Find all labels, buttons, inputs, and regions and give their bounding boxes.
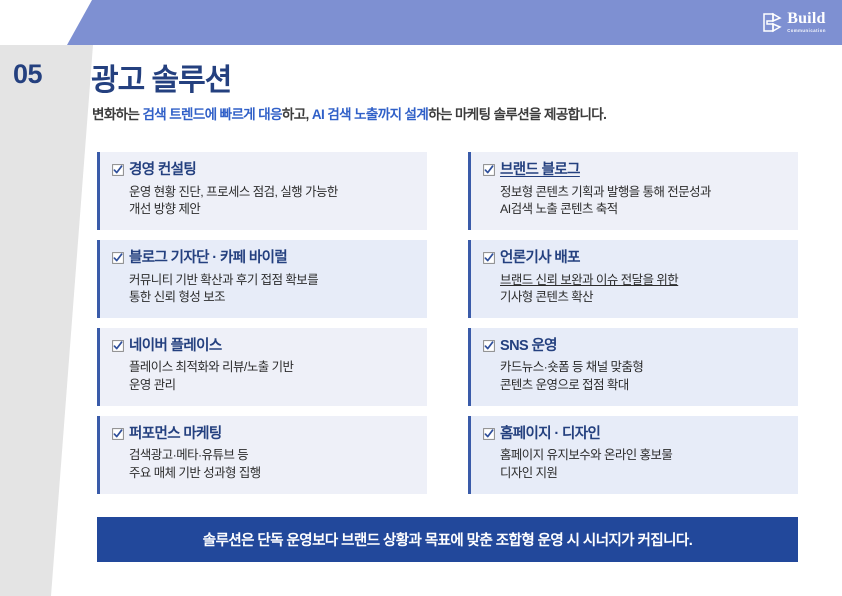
card-description: 홈페이지 유지보수와 온라인 홍보물 디자인 지원 [500,447,786,482]
solution-card[interactable]: 홈페이지 · 디자인 홈페이지 유지보수와 온라인 홍보물 디자인 지원 [468,416,798,494]
summary-banner-text: 솔루션은 단독 운영보다 브랜드 상황과 목표에 맞춘 조합형 운영 시 시너지… [203,529,692,550]
card-description-line: 콘텐츠 운영으로 접점 확대 [500,378,629,392]
card-header: 네이버 플레이스 [112,338,415,355]
card-description-line: 운영 관리 [129,378,176,392]
logo-wordmark: Build [787,11,826,27]
subtitle-segment-3: 하는 마케팅 솔루션을 제공합니다. [428,107,606,122]
card-title: 언론기사 배포 [500,250,580,267]
card-description-line: 커뮤니티 기반 확산과 후기 접점 확보를 [129,273,318,287]
card-header: SNS 운영 [483,338,786,355]
solution-card[interactable]: 브랜드 블로그 정보형 콘텐츠 기획과 발행을 통해 전문성과 AI검색 노출 … [468,152,798,230]
solution-card[interactable]: 언론기사 배포 브랜드 신뢰 보완과 이슈 전달을 위한 기사형 콘텐츠 확산 [468,240,798,318]
card-description-line: 정보형 콘텐츠 기획과 발행을 통해 전문성과 [500,185,711,199]
solution-card[interactable]: 퍼포먼스 마케팅 검색광고·메타·유튜브 등 주요 매체 기반 성과형 집행 [97,416,427,494]
card-description-line: 검색광고·메타·유튜브 등 [129,448,248,462]
slide-number: 05 [13,59,42,90]
card-title: 경영 컨설팅 [129,162,196,179]
card-title: SNS 운영 [500,338,557,355]
solution-card-grid: 경영 컨설팅 운영 현황 진단, 프로세스 점검, 실행 가능한 개선 방향 제… [97,152,798,494]
slide-canvas: Build Communication 05 광고 솔루션 변화하는 검색 트렌… [0,0,842,596]
checked-box-icon [112,428,124,440]
card-description-line: 통한 신뢰 형성 보조 [129,290,225,304]
checked-box-icon [112,252,124,264]
card-description-line: AI검색 노출 콘텐츠 축적 [500,202,618,216]
card-title: 블로그 기자단 · 카페 바이럴 [129,250,287,267]
card-header: 홈페이지 · 디자인 [483,426,786,443]
solution-card[interactable]: 경영 컨설팅 운영 현황 진단, 프로세스 점검, 실행 가능한 개선 방향 제… [97,152,427,230]
card-description-line: 운영 현황 진단, 프로세스 점검, 실행 가능한 [129,185,338,199]
card-description: 정보형 콘텐츠 기획과 발행을 통해 전문성과 AI검색 노출 콘텐츠 축적 [500,184,786,219]
page-subtitle: 변화하는 검색 트렌드에 빠르게 대응하고, AI 검색 노출까지 설계하는 마… [92,103,606,123]
card-description: 카드뉴스·숏폼 등 채널 맞춤형 콘텐츠 운영으로 접점 확대 [500,359,786,394]
subtitle-highlight-1: 검색 트렌드에 빠르게 대응 [142,107,281,122]
card-header: 블로그 기자단 · 카페 바이럴 [112,250,415,267]
solution-card[interactable]: 블로그 기자단 · 카페 바이럴 커뮤니티 기반 확산과 후기 접점 확보를 통… [97,240,427,318]
build-logo-icon [762,12,782,33]
card-description: 브랜드 신뢰 보완과 이슈 전달을 위한 기사형 콘텐츠 확산 [500,272,786,307]
summary-banner: 솔루션은 단독 운영보다 브랜드 상황과 목표에 맞춘 조합형 운영 시 시너지… [97,517,798,562]
solution-card[interactable]: SNS 운영 카드뉴스·숏폼 등 채널 맞춤형 콘텐츠 운영으로 접점 확대 [468,328,798,406]
card-title: 홈페이지 · 디자인 [500,426,600,443]
checked-box-icon [112,164,124,176]
subtitle-highlight-2: AI 검색 노출까지 설계 [312,107,428,122]
top-decorative-band [0,0,842,45]
card-description: 검색광고·메타·유튜브 등 주요 매체 기반 성과형 집행 [129,447,415,482]
checked-box-icon [483,252,495,264]
card-description: 플레이스 최적화와 리뷰/노출 기반 운영 관리 [129,359,415,394]
card-title: 네이버 플레이스 [129,338,222,355]
card-header: 경영 컨설팅 [112,162,415,179]
card-description-line: 카드뉴스·숏폼 등 채널 맞춤형 [500,360,643,374]
checked-box-icon [483,340,495,352]
card-description-line: 브랜드 신뢰 보완과 이슈 전달을 위한 [500,273,678,287]
page-title: 광고 솔루션 [91,55,231,99]
subtitle-segment-2: 하고, [282,107,312,122]
card-description-line: 개선 방향 제안 [129,202,200,216]
checked-box-icon [112,340,124,352]
card-title: 퍼포먼스 마케팅 [129,426,222,443]
card-description: 커뮤니티 기반 확산과 후기 접점 확보를 통한 신뢰 형성 보조 [129,272,415,307]
subtitle-segment-1: 변화하는 [92,107,142,122]
card-description-line: 플레이스 최적화와 리뷰/노출 기반 [129,360,293,374]
card-header: 퍼포먼스 마케팅 [112,426,415,443]
solution-card[interactable]: 네이버 플레이스 플레이스 최적화와 리뷰/노출 기반 운영 관리 [97,328,427,406]
card-description-line: 주요 매체 기반 성과형 집행 [129,466,261,480]
logo-tagline: Communication [787,29,826,33]
card-description-line: 홈페이지 유지보수와 온라인 홍보물 [500,448,672,462]
card-description-line: 디자인 지원 [500,466,557,480]
checked-box-icon [483,428,495,440]
card-description-line: 기사형 콘텐츠 확산 [500,290,593,304]
card-title: 브랜드 블로그 [500,162,580,179]
card-description: 운영 현황 진단, 프로세스 점검, 실행 가능한 개선 방향 제안 [129,184,415,219]
brand-logo: Build Communication [762,11,826,33]
checked-box-icon [483,164,495,176]
card-header: 브랜드 블로그 [483,162,786,179]
card-header: 언론기사 배포 [483,250,786,267]
